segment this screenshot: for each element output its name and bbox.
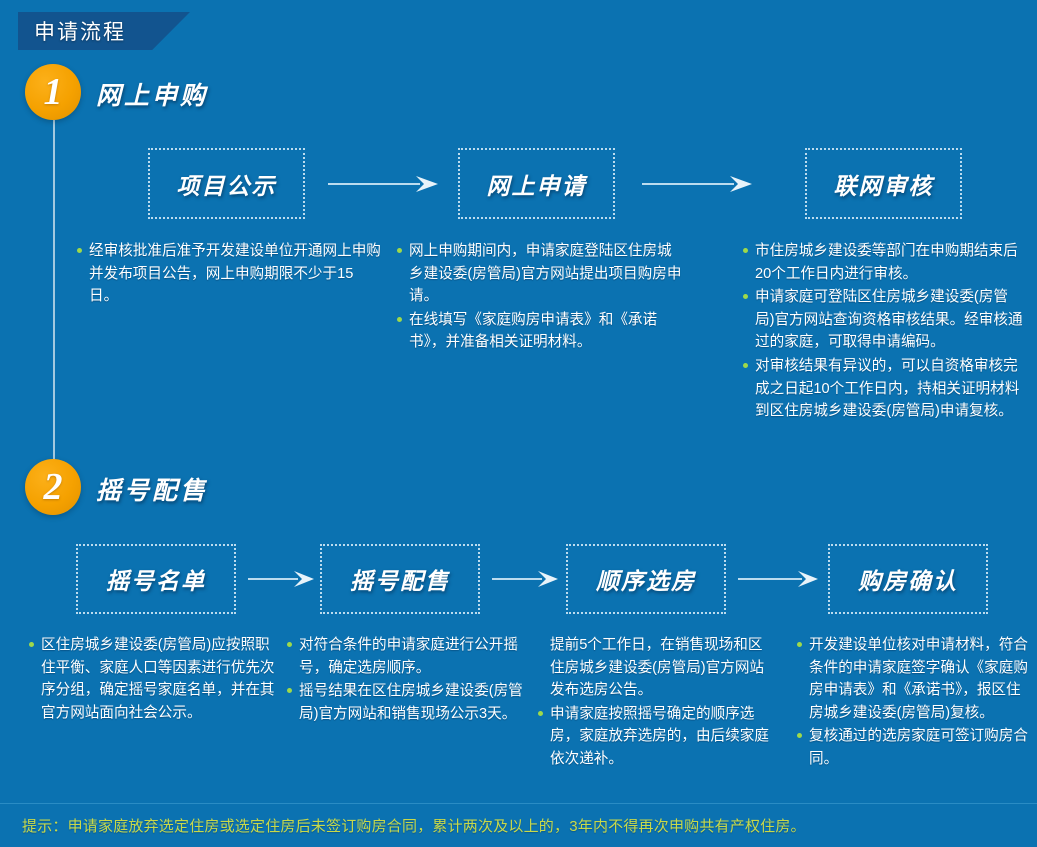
bullet-item: 提前5个工作日，在销售现场和区住房城乡建设委(房管局)官方网站发布选房公告。 xyxy=(537,634,777,702)
flow-box-2-2[interactable]: 摇号配售 xyxy=(320,544,480,614)
bullet-list: 市住房城乡建设委等部门在申购期结束后20个工作日内进行审核。 申请家庭可登陆区住… xyxy=(742,240,1024,423)
flow-box-label: 网上申请 xyxy=(487,167,587,201)
flow-arrow-1-1 xyxy=(328,170,438,198)
page-title: 申请流程 xyxy=(18,16,126,46)
bullet-column-2-2: 对符合条件的申请家庭进行公开摇号，确定选房顺序。 摇号结果在区住房城乡建设委(房… xyxy=(286,634,526,726)
bullet-item: 市住房城乡建设委等部门在申购期结束后20个工作日内进行审核。 xyxy=(742,240,1024,285)
flow-box-label: 摇号名单 xyxy=(106,562,206,596)
bullet-column-1-2: 网上申购期间内，申请家庭登陆区住房城乡建设委(房管局)官方网站提出项目购房申请。… xyxy=(396,240,686,355)
bullet-item: 区住房城乡建设委(房管局)应按照职住平衡、家庭人口等因素进行优先次序分组，确定摇… xyxy=(28,634,276,724)
flow-box-label: 联网审核 xyxy=(834,167,934,201)
bullet-list: 开发建设单位核对申请材料，符合条件的申请家庭签字确认《家庭购房申请表》和《承诺书… xyxy=(796,634,1028,771)
step-number-1: 1 xyxy=(44,73,63,111)
bullet-item: 申请家庭可登陆区住房城乡建设委(房管局)官方网站查询资格审核结果。经审核通过的家… xyxy=(742,286,1024,354)
flow-box-2-1[interactable]: 摇号名单 xyxy=(76,544,236,614)
bullet-list: 网上申购期间内，申请家庭登陆区住房城乡建设委(房管局)官方网站提出项目购房申请。… xyxy=(396,240,686,354)
bullet-item: 复核通过的选房家庭可签订购房合同。 xyxy=(796,725,1028,770)
flow-box-label: 项目公示 xyxy=(177,167,277,201)
bullet-column-2-1: 区住房城乡建设委(房管局)应按照职住平衡、家庭人口等因素进行优先次序分组，确定摇… xyxy=(28,634,276,725)
flow-arrow-2-2 xyxy=(492,566,558,592)
flow-box-label: 摇号配售 xyxy=(350,562,450,596)
flow-box-2-3[interactable]: 顺序选房 xyxy=(566,544,726,614)
bullet-item: 对审核结果有异议的，可以自资格审核完成之日起10个工作日内，持相关证明材料到区住… xyxy=(742,355,1024,423)
flow-box-1-2[interactable]: 网上申请 xyxy=(458,148,615,219)
tip-bar: 提示：申请家庭放弃选定住房或选定住房后未签订购房合同，累计两次及以上的，3年内不… xyxy=(0,803,1037,847)
bullet-column-2-3: 提前5个工作日，在销售现场和区住房城乡建设委(房管局)官方网站发布选房公告。 申… xyxy=(537,634,777,772)
step-connector-line xyxy=(53,120,55,480)
bullet-item: 申请家庭按照摇号确定的顺序选房，家庭放弃选房的，由后续家庭依次递补。 xyxy=(537,703,777,771)
bullet-item: 对符合条件的申请家庭进行公开摇号，确定选房顺序。 xyxy=(286,634,526,679)
flow-box-2-4[interactable]: 购房确认 xyxy=(828,544,988,614)
bullet-item: 开发建设单位核对申请材料，符合条件的申请家庭签字确认《家庭购房申请表》和《承诺书… xyxy=(796,634,1028,724)
bullet-column-1-3: 市住房城乡建设委等部门在申购期结束后20个工作日内进行审核。 申请家庭可登陆区住… xyxy=(742,240,1024,424)
bullet-column-2-4: 开发建设单位核对申请材料，符合条件的申请家庭签字确认《家庭购房申请表》和《承诺书… xyxy=(796,634,1028,772)
flow-box-1-1[interactable]: 项目公示 xyxy=(148,148,305,219)
bullet-item: 摇号结果在区住房城乡建设委(房管局)官方网站和销售现场公示3天。 xyxy=(286,680,526,725)
bullet-list: 经审核批准后准予开发建设单位开通网上申购并发布项目公告，网上申购期限不少于15日… xyxy=(76,240,382,308)
step-badge-1: 1 xyxy=(25,64,81,120)
step-title-1: 网上申购 xyxy=(96,76,208,112)
bullet-list: 提前5个工作日，在销售现场和区住房城乡建设委(房管局)官方网站发布选房公告。 申… xyxy=(537,634,777,771)
bullet-list: 对符合条件的申请家庭进行公开摇号，确定选房顺序。 摇号结果在区住房城乡建设委(房… xyxy=(286,634,526,725)
bullet-item: 在线填写《家庭购房申请表》和《承诺书》，并准备相关证明材料。 xyxy=(396,309,686,354)
page-banner: 申请流程 xyxy=(18,12,190,50)
step-title-2: 摇号配售 xyxy=(96,471,208,507)
tip-text: 提示：申请家庭放弃选定住房或选定住房后未签订购房合同，累计两次及以上的，3年内不… xyxy=(0,815,806,836)
step-number-2: 2 xyxy=(44,468,63,506)
bullet-item: 经审核批准后准予开发建设单位开通网上申购并发布项目公告，网上申购期限不少于15日… xyxy=(76,240,382,308)
flow-box-label: 购房确认 xyxy=(858,562,958,596)
flow-box-1-3[interactable]: 联网审核 xyxy=(805,148,962,219)
flow-arrow-2-1 xyxy=(248,566,314,592)
bullet-item: 网上申购期间内，申请家庭登陆区住房城乡建设委(房管局)官方网站提出项目购房申请。 xyxy=(396,240,686,308)
flow-arrow-1-2 xyxy=(642,170,752,198)
flow-arrow-2-3 xyxy=(738,566,818,592)
flow-box-label: 顺序选房 xyxy=(596,562,696,596)
bullet-column-1-1: 经审核批准后准予开发建设单位开通网上申购并发布项目公告，网上申购期限不少于15日… xyxy=(76,240,382,309)
step-badge-2: 2 xyxy=(25,459,81,515)
bullet-list: 区住房城乡建设委(房管局)应按照职住平衡、家庭人口等因素进行优先次序分组，确定摇… xyxy=(28,634,276,724)
